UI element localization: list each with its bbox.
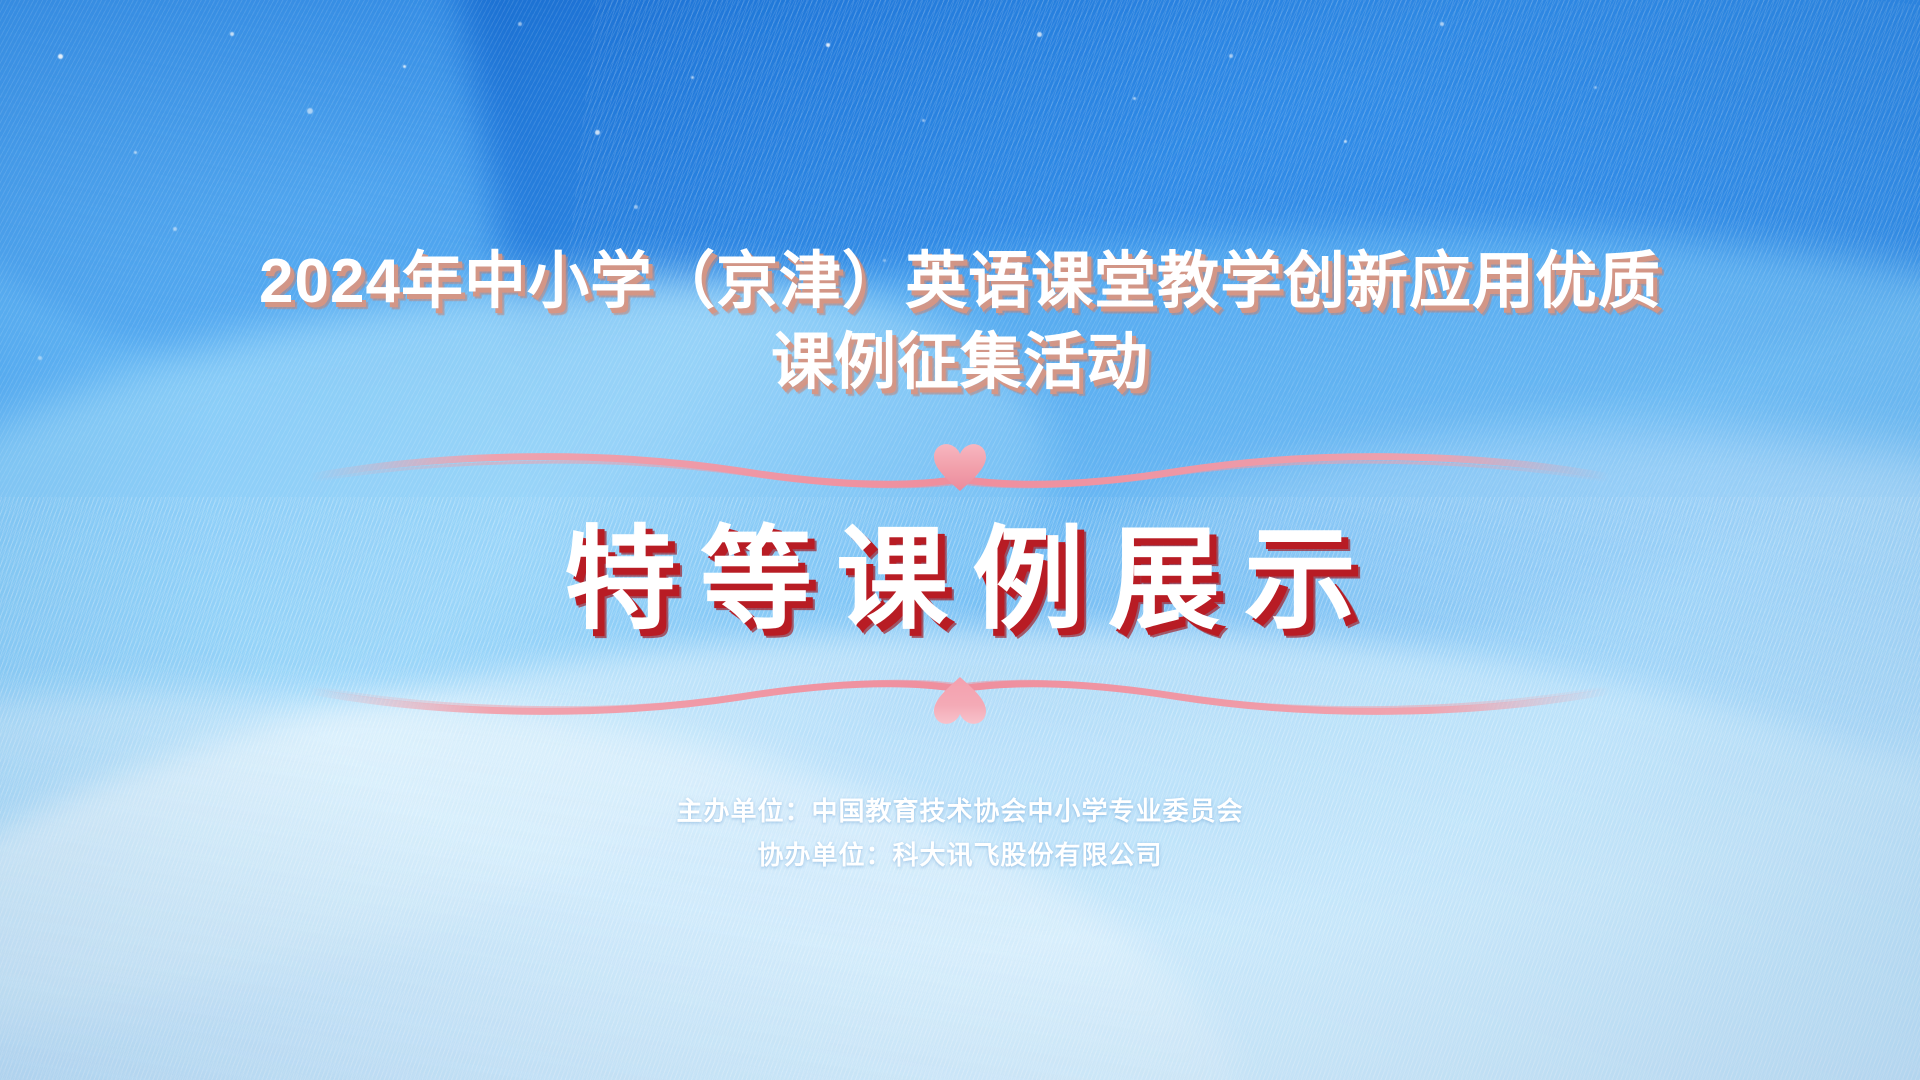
event-title-line-1: 2024年中小学（京津）英语课堂教学创新应用优质 — [120, 242, 1800, 323]
slide-content: 2024年中小学（京津）英语课堂教学创新应用优质 课例征集活动 — [0, 0, 1920, 1080]
event-title-line-2: 课例征集活动 — [120, 323, 1800, 404]
presentation-slide: 2024年中小学（京津）英语课堂教学创新应用优质 课例征集活动 — [0, 0, 1920, 1080]
divider-bottom — [310, 669, 1610, 731]
event-title: 2024年中小学（京津）英语课堂教学创新应用优质 课例征集活动 — [120, 242, 1800, 403]
co-host-organization: 协办单位：科大讯飞股份有限公司 — [676, 833, 1243, 877]
headline: 特等课例展示 — [540, 517, 1380, 642]
divider-top — [310, 437, 1610, 499]
organizer-credits: 主办单位：中国教育技术协会中小学专业委员会 协办单位：科大讯飞股份有限公司 — [676, 789, 1243, 877]
host-organization: 主办单位：中国教育技术协会中小学专业委员会 — [676, 789, 1243, 833]
